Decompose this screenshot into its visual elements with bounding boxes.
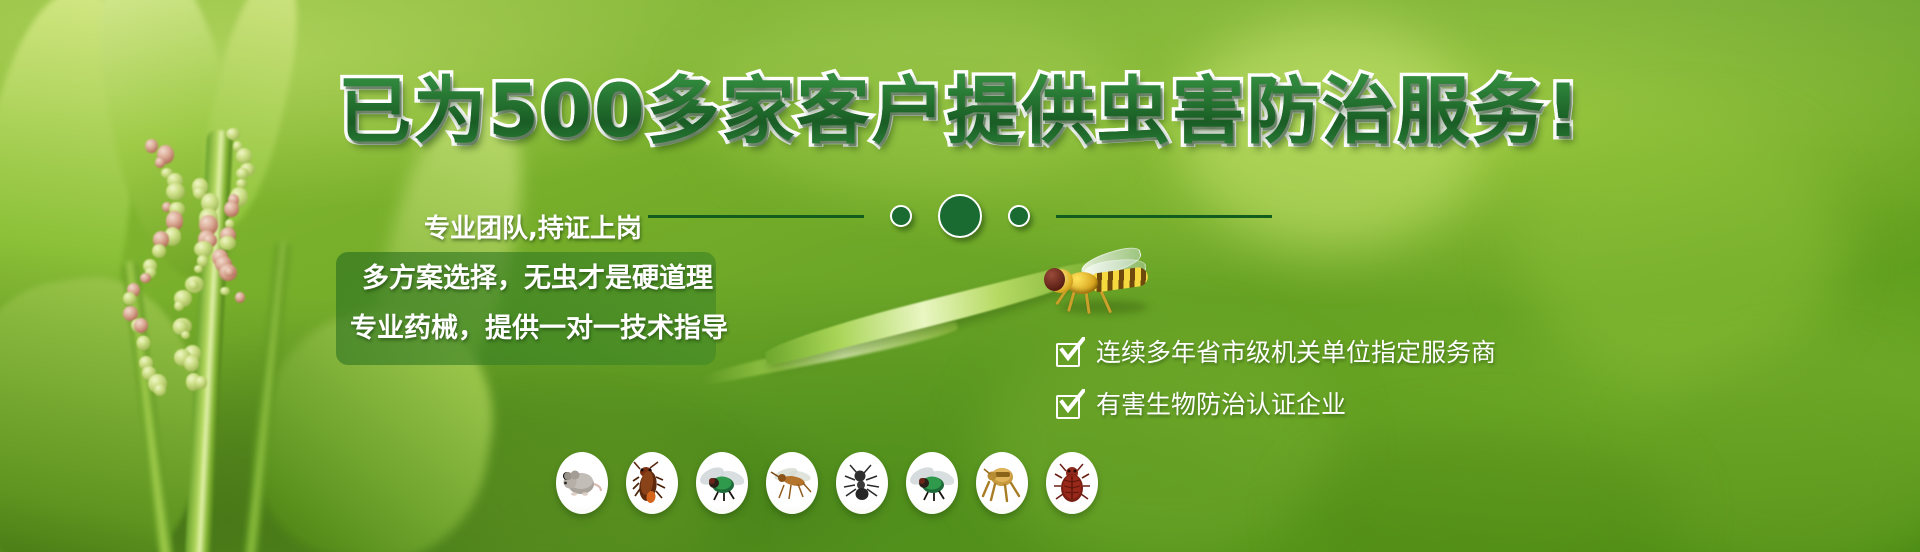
fly-icon[interactable] xyxy=(696,452,748,514)
slogan-list: 专业团队,持证上岗 多方案选择，无虫才是硬道理 专业药械，提供一对一技术指导 xyxy=(336,212,896,346)
slogan-line-3: 专业药械，提供一对一技术指导 xyxy=(350,312,728,346)
flower-bud xyxy=(220,287,230,296)
pest-icon-row xyxy=(556,452,1098,514)
flower-bud xyxy=(174,301,184,311)
checkbox-checked-icon xyxy=(1056,392,1082,418)
divider-dot-large xyxy=(938,194,982,238)
flower-bud xyxy=(195,376,207,389)
flower-bud xyxy=(235,292,245,303)
flower-bud xyxy=(152,244,166,258)
decorative-divider xyxy=(0,196,1920,236)
mosquito-icon[interactable] xyxy=(766,452,818,514)
flower-bud xyxy=(137,336,150,350)
checkbox-checked-icon xyxy=(1056,340,1082,366)
hoverfly-icon xyxy=(1040,250,1155,312)
cockroach-icon[interactable] xyxy=(626,452,678,514)
flower-bud xyxy=(123,292,135,305)
rat-icon[interactable] xyxy=(556,452,608,514)
flower-bud xyxy=(194,265,204,274)
slogan-line-1: 专业团队,持证上岗 xyxy=(424,212,642,246)
list-item: 有害生物防治认证企业 xyxy=(1056,390,1496,420)
promo-banner: 已为500多家客户提供虫害防治服务! 已为500多家客户提供虫害防治服务! 专业… xyxy=(0,0,1920,552)
slogan-line-2: 多方案选择，无虫才是硬道理 xyxy=(362,262,713,296)
fly-icon[interactable] xyxy=(906,452,958,514)
flower-bud xyxy=(134,318,148,333)
page-title: 已为500多家客户提供虫害防治服务! xyxy=(0,70,1920,154)
flea-icon[interactable] xyxy=(976,452,1028,514)
list-item: 连续多年省市级机关单位指定服务商 xyxy=(1056,338,1496,368)
credentials-list: 连续多年省市级机关单位指定服务商 有害生物防治认证企业 xyxy=(1056,338,1496,420)
flower-bud xyxy=(236,168,249,180)
flower-bud xyxy=(181,331,190,339)
flower-bud xyxy=(154,384,166,395)
flower-bud xyxy=(224,267,235,277)
flower-bud xyxy=(188,280,198,289)
flower-bud-cluster xyxy=(130,130,330,450)
flower-bud xyxy=(155,157,166,168)
bedbug-icon[interactable] xyxy=(1046,452,1098,514)
credential-text: 连续多年省市级机关单位指定服务商 xyxy=(1096,338,1496,368)
flower-bud xyxy=(140,273,151,284)
divider-dot-small xyxy=(1008,205,1030,227)
flower-bud xyxy=(184,355,199,372)
credential-text: 有害生物防治认证企业 xyxy=(1096,390,1346,420)
ant-icon[interactable] xyxy=(836,452,888,514)
divider-line-right xyxy=(1056,215,1272,218)
